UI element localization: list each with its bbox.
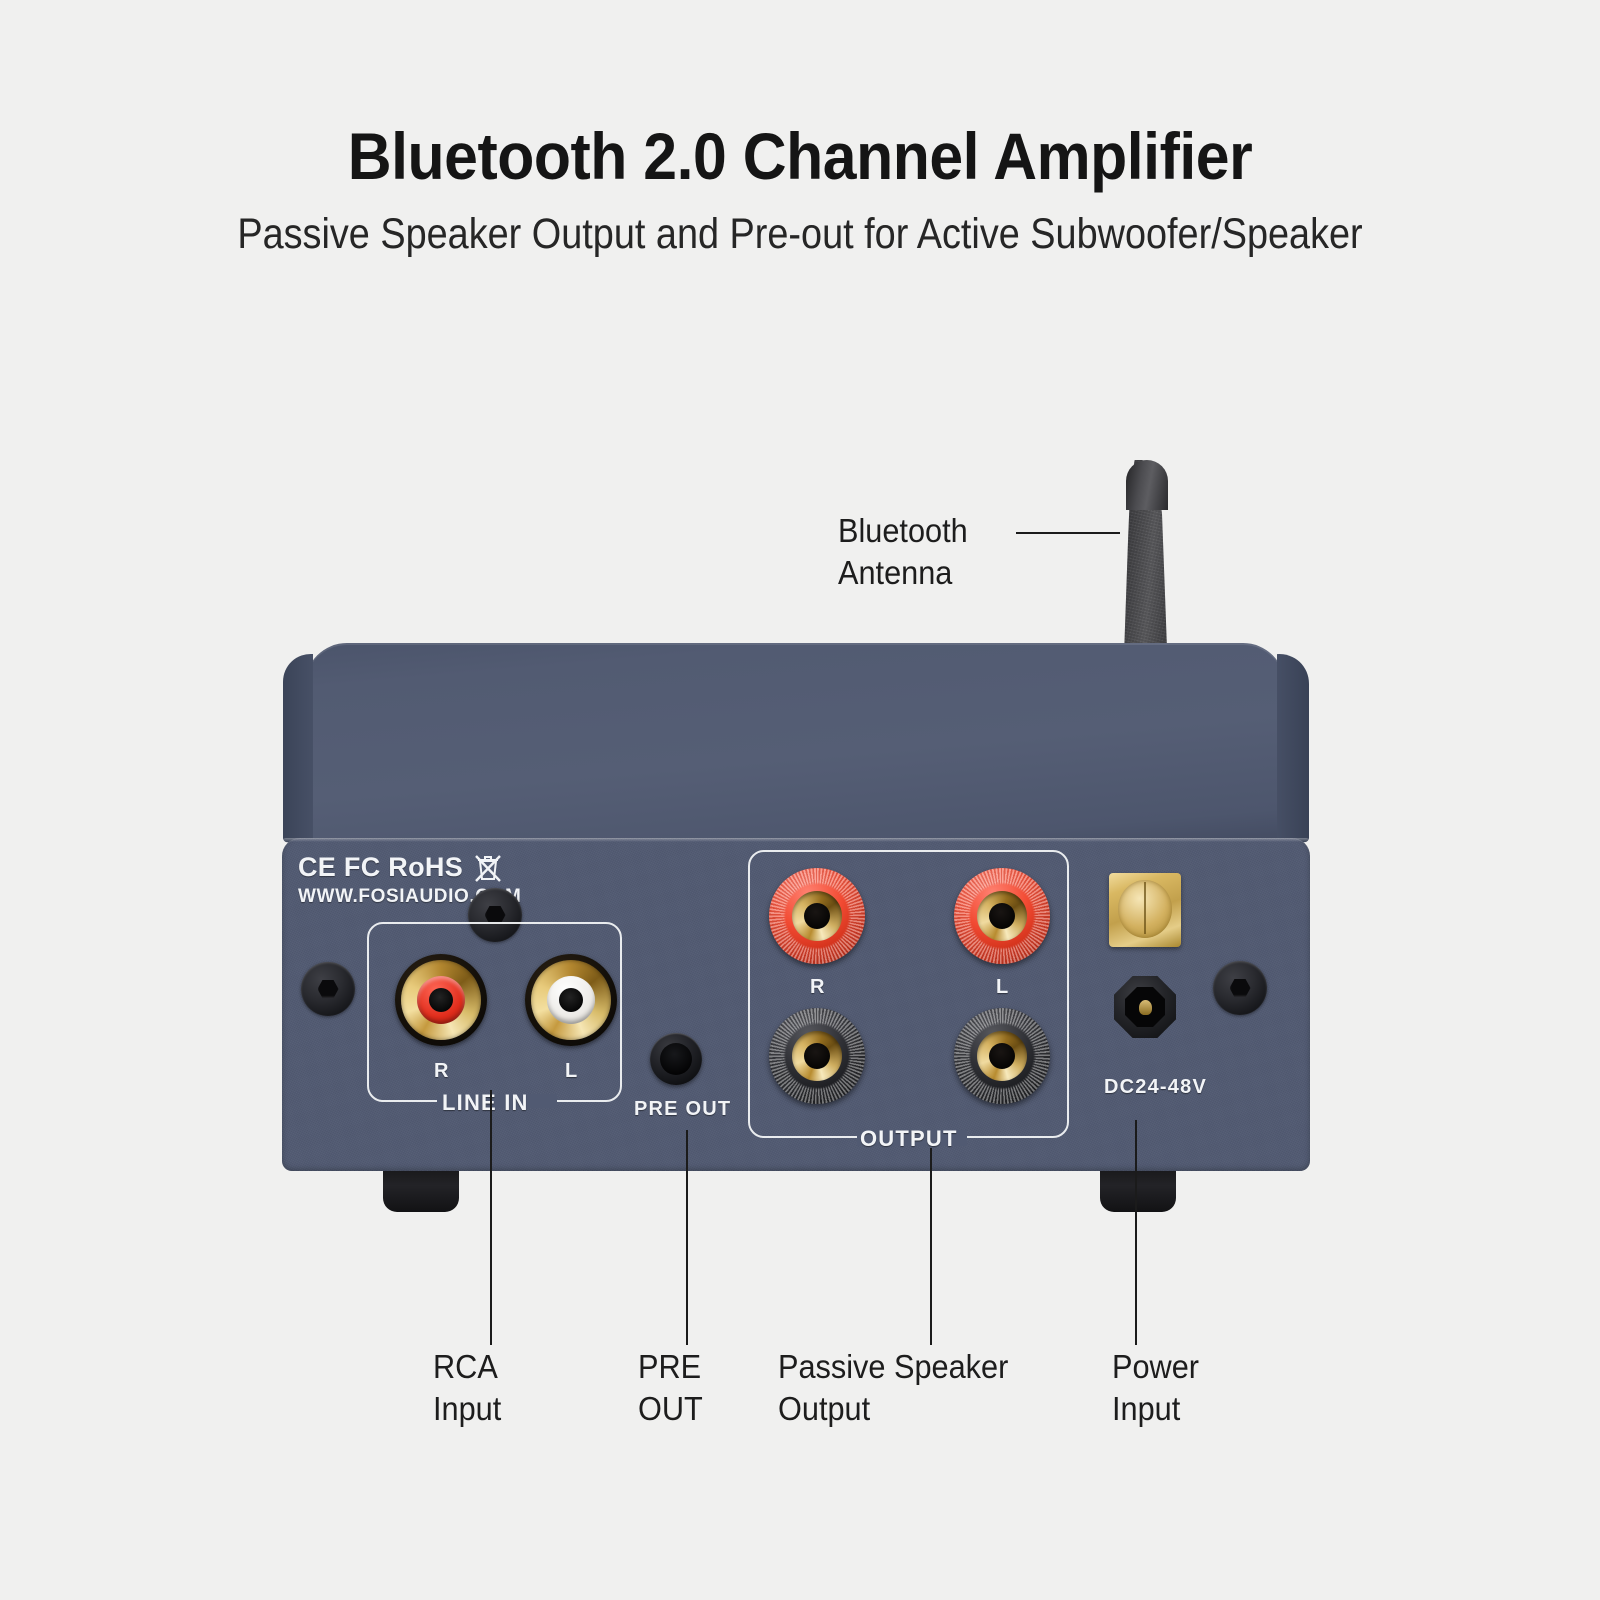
binding-post-left-negative[interactable]	[954, 1008, 1050, 1104]
rubber-foot-right	[1100, 1168, 1176, 1212]
header: Bluetooth 2.0 Channel Amplifier Passive …	[0, 0, 1600, 256]
sma-seam	[1144, 882, 1146, 934]
panel-screw-far-left	[301, 962, 355, 1016]
line-in-group-label: LINE IN	[442, 1090, 529, 1116]
line-in-left-label: L	[565, 1060, 578, 1083]
output-right-label: R	[810, 976, 826, 999]
binding-post-gold-hole	[792, 1031, 842, 1081]
rca-pin-hole	[429, 988, 453, 1012]
dc-jack-bore	[1125, 987, 1165, 1027]
page-title: Bluetooth 2.0 Channel Amplifier	[64, 0, 1536, 189]
chassis-top-cover	[305, 643, 1285, 843]
dc-jack-center-pin	[1139, 1000, 1152, 1015]
rubber-foot-left	[383, 1168, 459, 1212]
crossed-out-wheelie-bin-icon	[475, 853, 501, 883]
callout-label-bluetooth-antenna: Bluetooth Antenna	[838, 510, 968, 594]
output-left-label: L	[996, 976, 1009, 999]
rca-jack-left[interactable]	[525, 954, 617, 1046]
callout-label-rca-input: RCA Input	[433, 1346, 501, 1430]
callout-label-pre-out: PRE OUT	[638, 1346, 703, 1430]
banana-plug-hole	[804, 903, 830, 929]
panel-screw-far-right	[1213, 961, 1267, 1015]
pre-out-label: PRE OUT	[634, 1098, 731, 1121]
banana-plug-hole	[989, 1043, 1015, 1069]
output-group-label: OUTPUT	[860, 1126, 958, 1152]
rear-panel-face: CE FC RoHS WWW.FOSIAUDIO.COM LINE IN	[282, 838, 1310, 1171]
callout-leader-pre-out	[686, 1130, 688, 1345]
banana-plug-hole	[989, 903, 1015, 929]
binding-post-right-positive[interactable]	[769, 868, 865, 964]
callout-leader-bluetooth-antenna	[1016, 532, 1120, 534]
callout-label-power-input: Power Input	[1112, 1346, 1199, 1430]
hex-socket-icon	[318, 980, 339, 999]
rca-collar-red	[417, 976, 465, 1024]
cert-logos-row: CE FC RoHS	[298, 852, 521, 883]
cert-marks-text: CE FC RoHS	[298, 852, 463, 883]
rca-gold-ring	[531, 960, 611, 1040]
panel-top-bevel	[282, 838, 1310, 842]
antenna-tip	[1126, 460, 1168, 510]
binding-post-gold-hole	[977, 891, 1027, 941]
binding-post-gold-hole	[792, 891, 842, 941]
page-subtitle: Passive Speaker Output and Pre-out for A…	[96, 189, 1504, 256]
callout-leader-rca-input	[490, 1090, 492, 1345]
pre-out-jack[interactable]	[650, 1033, 702, 1085]
binding-post-gold-hole	[977, 1031, 1027, 1081]
pre-out-bore	[660, 1043, 692, 1075]
banana-plug-hole	[804, 1043, 830, 1069]
line-in-right-label: R	[434, 1060, 450, 1083]
dc-rating-label: DC24-48V	[1104, 1076, 1207, 1099]
dc-power-jack[interactable]	[1114, 976, 1176, 1038]
callout-leader-power-input	[1135, 1120, 1137, 1345]
callout-label-passive-speaker-output: Passive Speaker Output	[778, 1346, 1008, 1430]
hex-socket-icon	[1230, 979, 1251, 998]
callout-leader-passive-speaker-output	[930, 1148, 932, 1345]
rca-gold-ring	[401, 960, 481, 1040]
rca-collar-white	[547, 976, 595, 1024]
rca-jack-right[interactable]	[395, 954, 487, 1046]
rca-pin-hole	[559, 988, 583, 1012]
binding-post-left-positive[interactable]	[954, 868, 1050, 964]
binding-post-right-negative[interactable]	[769, 1008, 865, 1104]
